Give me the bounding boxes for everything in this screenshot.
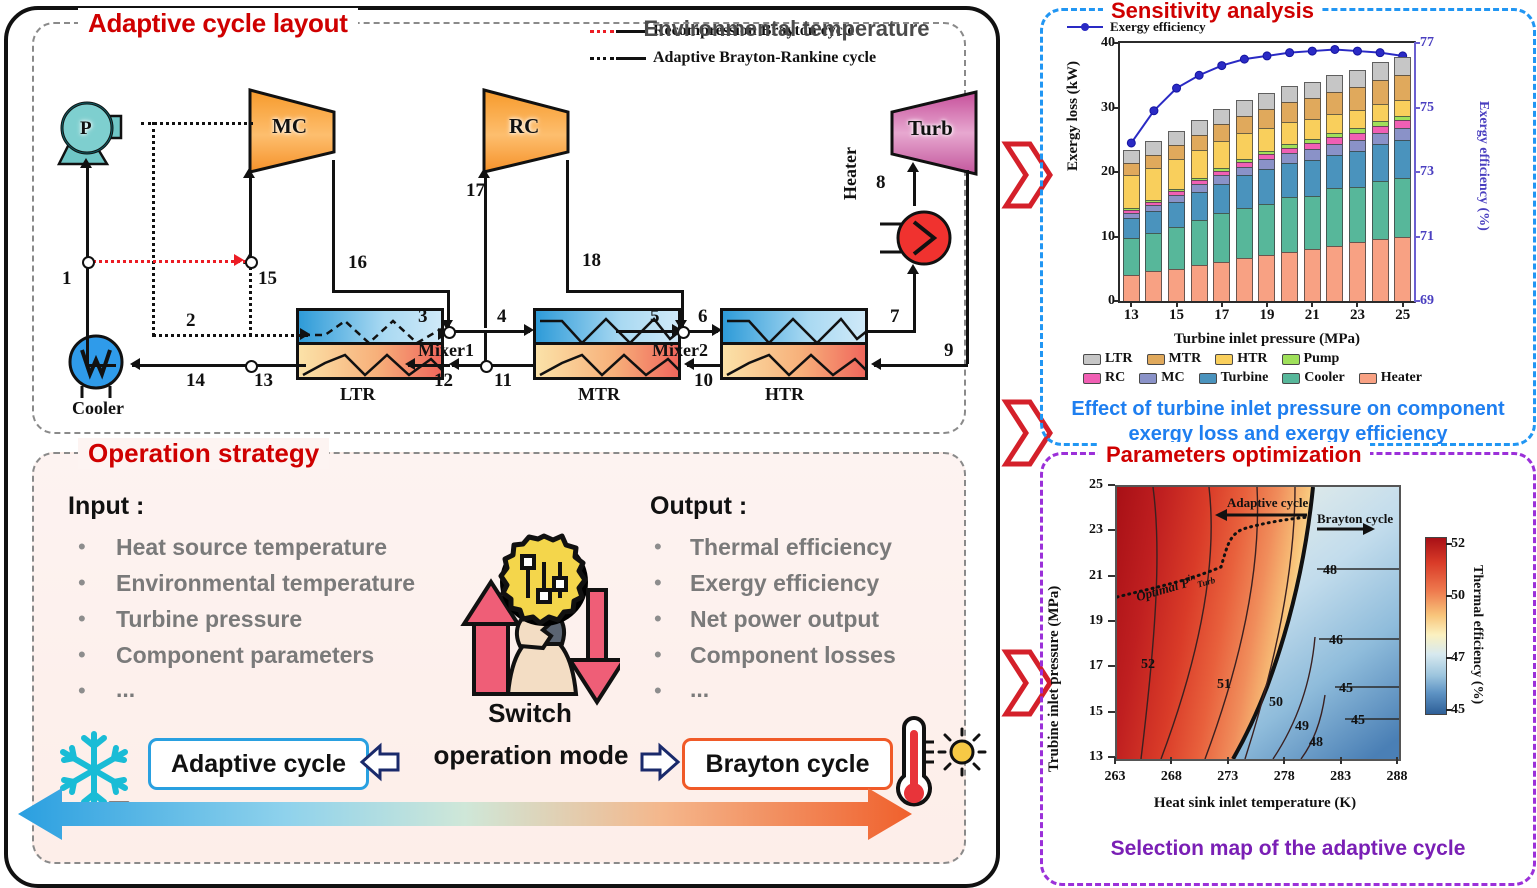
annotation-adaptive-cycle: Adaptive cycle <box>1227 495 1308 511</box>
mode-adaptive-label: Adaptive cycle <box>171 750 346 779</box>
contour-label-51: 51 <box>1217 677 1231 693</box>
bar-segment-mtr <box>1372 80 1389 104</box>
bar-segment-htr <box>1304 119 1321 140</box>
bar-segment-mtr <box>1304 98 1321 119</box>
stream-label-6: 6 <box>698 306 708 328</box>
bar-15 <box>1168 131 1185 301</box>
contour-y-tick-mark <box>1108 529 1115 531</box>
bar-chart-x-axis-title: Turbine inlet pressure (MPa) <box>1118 331 1416 348</box>
y-tick-mark <box>1114 236 1120 238</box>
bar-segment-heater <box>1123 275 1140 301</box>
arrow-left-hollow-icon <box>358 740 402 784</box>
bullet-icon: • <box>654 642 662 668</box>
contour-y-tick-mark <box>1108 665 1115 667</box>
contour-y-tick-mark <box>1108 620 1115 622</box>
exergy-loss-bar-chart: 010203040697173757713151719212325 <box>1118 41 1416 303</box>
switch-line-2: operation mode <box>396 740 666 771</box>
contour-x-tick-mark <box>1170 757 1172 764</box>
gear-head-person-icon <box>460 524 620 714</box>
contour-x-tick-263: 263 <box>1105 769 1126 785</box>
contour-y-tick-mark <box>1108 575 1115 577</box>
bar-chart-y-axis-title: Exergy loss (kW) <box>1065 61 1082 171</box>
bar-segment-heater <box>1168 269 1185 301</box>
bar-segment-ltr <box>1304 82 1321 98</box>
colorbar-tick-52: 52 <box>1451 536 1465 552</box>
legend-item-rc[interactable]: RC <box>1083 370 1125 386</box>
legend-item-pump[interactable]: Pump <box>1282 351 1340 367</box>
node-1 <box>82 256 95 269</box>
contour-x-tick-278: 278 <box>1274 769 1295 785</box>
bar-segment-cooler <box>1349 187 1366 242</box>
bar-segment-ltr <box>1191 120 1208 134</box>
htr-label: HTR <box>765 384 804 405</box>
legend-row: RCMCTurbineCoolerHeater <box>1083 370 1503 386</box>
legend-label: MC <box>1161 370 1184 386</box>
bar-segment-ltr <box>1145 141 1162 155</box>
legend-label: LTR <box>1105 351 1133 367</box>
bar-segment-ltr <box>1326 75 1343 92</box>
contour-x-tick-mark <box>1396 757 1398 764</box>
graphical-abstract: Adaptive cycle layout Recompression Bray… <box>0 0 1537 886</box>
sensitivity-caption: Effect of turbine inlet pressure on comp… <box>1049 397 1527 447</box>
legend-label: Heater <box>1381 370 1422 386</box>
bar-20 <box>1281 86 1298 301</box>
y2-tick-mark <box>1414 300 1420 302</box>
bullet-icon: • <box>78 570 86 596</box>
legend-swatch-icon <box>1215 354 1233 365</box>
bar-segment-htr <box>1258 128 1275 151</box>
bar-segment-rc <box>1394 120 1411 128</box>
contour-y-tick-21: 21 <box>1089 568 1103 584</box>
bar-segment-cooler <box>1372 181 1389 239</box>
input-item-4: ... <box>116 676 135 703</box>
turbine-label: Turb <box>908 116 953 141</box>
bar-segment-cooler <box>1394 178 1411 237</box>
x-tick-mark <box>1221 301 1223 307</box>
bar-segment-htr <box>1281 122 1298 144</box>
stream-label-12: 12 <box>434 370 453 392</box>
bar-25 <box>1394 57 1411 301</box>
bar-segment-cooler <box>1168 227 1185 269</box>
bar-segment-cooler <box>1191 220 1208 265</box>
contour-y-tick-mark <box>1108 711 1115 713</box>
mode-adaptive-cycle[interactable]: Adaptive cycle <box>148 738 369 790</box>
legend-swatch-icon <box>1199 373 1217 384</box>
bar-segment-turbine <box>1168 202 1185 227</box>
bar-segment-htr <box>1168 159 1185 189</box>
colorbar-tick-mark <box>1446 657 1452 659</box>
bar-22 <box>1326 75 1343 301</box>
parameters-optimization-panel: Parameters optimization Trubine inlet pr… <box>1040 452 1536 886</box>
y-tick-mark <box>1114 300 1120 302</box>
x-tick-19: 19 <box>1260 307 1275 324</box>
x-tick-13: 13 <box>1124 307 1139 324</box>
y2-tick-mark <box>1414 42 1420 44</box>
bar-segment-turbine <box>1191 192 1208 220</box>
legend-row: LTRMTRHTRPump <box>1083 351 1503 367</box>
stream-label-8: 8 <box>876 172 886 194</box>
bar-segment-mtr <box>1168 145 1185 159</box>
legend-line-dashed-black-icon <box>590 53 646 63</box>
arrow-12 <box>405 358 415 370</box>
contour-label-52: 52 <box>1141 657 1155 673</box>
y2-tick-mark <box>1414 171 1420 173</box>
output-heading: Output : <box>650 492 747 521</box>
y2-tick-75: 75 <box>1420 100 1434 116</box>
stream-label-14: 14 <box>186 370 205 392</box>
legend-item-mtr[interactable]: MTR <box>1147 351 1202 367</box>
contour-y-axis-title: Trubine inlet pressure (MPa) <box>1046 586 1063 772</box>
bar-segment-cooler <box>1213 213 1230 261</box>
input-item-1: Environmental temperature <box>116 570 415 597</box>
bar-segment-heater <box>1191 265 1208 301</box>
y-tick-20: 20 <box>1101 164 1115 180</box>
bar-series-container <box>1120 43 1414 301</box>
bar-segment-turbine <box>1394 140 1411 178</box>
contour-label-48: 48 <box>1323 563 1337 579</box>
contour-label-46: 45 <box>1339 681 1353 697</box>
arrow-into-cooler <box>130 358 140 370</box>
recompressor-label: RC <box>509 114 539 139</box>
legend-item-cooler[interactable]: Cooler <box>1282 370 1344 386</box>
stream-label-9: 9 <box>944 340 954 362</box>
wire-18-v <box>566 160 569 292</box>
bar-segment-htr <box>1145 168 1162 200</box>
contour-label-45: 45 <box>1351 713 1365 729</box>
dwire-pump-out-top <box>141 122 253 125</box>
bar-segment-heater <box>1281 252 1298 301</box>
legend-item-mc[interactable]: MC <box>1139 370 1184 386</box>
output-item-3: Component losses <box>690 642 896 669</box>
stream-label-16: 16 <box>348 252 367 274</box>
bar-segment-cooler <box>1258 204 1275 256</box>
colorbar-tick-mark <box>1446 543 1452 545</box>
arrow-into-htr-top <box>712 324 722 336</box>
bar-segment-cooler <box>1236 208 1253 258</box>
mode-brayton-cycle[interactable]: Brayton cycle <box>682 738 893 790</box>
x-tick-mark <box>1176 301 1178 307</box>
y2-tick-mark <box>1414 236 1420 238</box>
legend-swatch-icon <box>1139 373 1157 384</box>
bar-16 <box>1191 120 1208 301</box>
bar-segment-mtr <box>1326 92 1343 114</box>
y2-tick-mark <box>1414 107 1420 109</box>
bar-14 <box>1145 141 1162 301</box>
bar-segment-mc <box>1372 133 1389 145</box>
stream-label-10: 10 <box>694 370 713 392</box>
bar-segment-mc <box>1349 140 1366 151</box>
bar-segment-htr <box>1326 114 1343 133</box>
pump-icon <box>55 98 137 170</box>
legend-swatch-icon <box>1083 373 1101 384</box>
optimal-sup: in <box>1186 571 1196 583</box>
bar-segment-turbine <box>1213 184 1230 214</box>
bar-segment-mtr <box>1213 124 1230 141</box>
bar-segment-ltr <box>1168 131 1185 145</box>
legend-label: HTR <box>1237 351 1267 367</box>
x-tick-mark <box>1402 301 1404 307</box>
wire-14 <box>132 364 302 367</box>
x-tick-17: 17 <box>1214 307 1229 324</box>
bar-segment-heater <box>1213 262 1230 301</box>
wire-9-v <box>966 170 969 364</box>
optimization-caption: Selection map of the adaptive cycle <box>1049 837 1527 861</box>
contour-label-48b: 48 <box>1309 735 1323 751</box>
bullet-icon: • <box>654 678 662 704</box>
wire-1-lower <box>86 258 89 366</box>
x-tick-mark <box>1266 301 1268 307</box>
node-15 <box>245 256 258 269</box>
y-tick-10: 10 <box>1101 229 1115 245</box>
stream-label-2: 2 <box>186 310 196 332</box>
bar-21 <box>1304 82 1321 301</box>
stream-label-18: 18 <box>582 250 601 272</box>
wire-15-up <box>249 176 252 260</box>
contour-label-50: 50 <box>1269 695 1283 711</box>
bar-segment-turbine <box>1236 175 1253 208</box>
bar-segment-heater <box>1304 249 1321 301</box>
bar-segment-ltr <box>1258 93 1275 108</box>
bar-segment-htr <box>1349 110 1366 128</box>
bar-chart-y2-axis-title: Exergy efficiency (%) <box>1475 101 1491 231</box>
x-tick-mark <box>1130 301 1132 307</box>
legend-item-ltr[interactable]: LTR <box>1083 351 1133 367</box>
bar-segment-mc <box>1394 128 1411 140</box>
node-11-branch <box>480 360 493 373</box>
bar-segment-turbine <box>1258 169 1275 204</box>
wire-9-h <box>874 364 968 367</box>
bar-segment-heater <box>1258 255 1275 301</box>
ltr-label: LTR <box>340 384 375 405</box>
stream-label-13: 13 <box>254 370 273 392</box>
bar-23 <box>1349 70 1366 301</box>
bar-segment-cooler <box>1281 197 1298 252</box>
bar-segment-htr <box>1236 133 1253 158</box>
stream-label-5: 5 <box>650 306 660 328</box>
contour-x-tick-283: 283 <box>1330 769 1351 785</box>
bar-segment-heater <box>1145 271 1162 301</box>
mtr-label: MTR <box>578 384 620 405</box>
legend-swatch-icon <box>1282 373 1300 384</box>
bar-segment-ltr <box>1394 57 1411 75</box>
contour-y-tick-mark <box>1108 484 1115 486</box>
legend-label: MTR <box>1169 351 1202 367</box>
colorbar-tick-47: 47 <box>1451 650 1465 666</box>
bar-segment-mc <box>1213 175 1230 183</box>
contour-x-tick-288: 288 <box>1387 769 1408 785</box>
bullet-icon: • <box>78 678 86 704</box>
htr-heat-exchanger <box>720 308 868 380</box>
legend-label: Pump <box>1304 351 1340 367</box>
bar-segment-mc <box>1258 159 1275 169</box>
exergy-efficiency-legend: Exergy efficiency <box>1065 19 1206 35</box>
bar-segment-ltr <box>1213 109 1230 124</box>
arrow-right-hollow-icon <box>638 740 682 784</box>
arrow-into-mtr-top <box>524 324 534 336</box>
arrow-into-turbine <box>907 162 919 172</box>
arrow-2-into-ltr <box>300 328 310 340</box>
bar-segment-ltr <box>1236 100 1253 115</box>
bar-segment-cooler <box>1326 188 1343 245</box>
contour-y-tick-25: 25 <box>1089 477 1103 493</box>
bar-segment-heater <box>1372 239 1389 301</box>
y-tick-40: 40 <box>1101 35 1115 51</box>
bar-segment-mc <box>1168 195 1185 202</box>
contour-x-tick-mark <box>1227 757 1229 764</box>
wire-7-v <box>913 272 916 332</box>
contour-label-49: 49 <box>1295 719 1309 735</box>
bar-segment-htr <box>1394 100 1411 116</box>
bar-segment-turbine <box>1145 211 1162 233</box>
wire-13 <box>296 364 306 367</box>
wire-4 <box>452 330 530 333</box>
stream-label-4: 4 <box>497 306 507 328</box>
output-item-2: Net power output <box>690 606 879 633</box>
bar-segment-htr <box>1191 150 1208 178</box>
colorbar-tick-mark <box>1446 709 1452 711</box>
x-tick-21: 21 <box>1305 307 1320 324</box>
main-compressor-label: MC <box>272 114 307 139</box>
bar-segment-ltr <box>1281 86 1298 102</box>
bar-segment-mtr <box>1394 75 1411 100</box>
contour-y-tick-23: 23 <box>1089 522 1103 538</box>
sensitivity-caption-line1: Effect of turbine inlet pressure on comp… <box>1049 397 1527 422</box>
contour-x-tick-mark <box>1340 757 1342 764</box>
x-tick-mark <box>1356 301 1358 307</box>
contour-y-tick-15: 15 <box>1089 704 1103 720</box>
arrow-into-heater <box>907 264 919 274</box>
bar-segment-turbine <box>1326 155 1343 189</box>
legend-label: Turbine <box>1221 370 1269 386</box>
operation-strategy-title: Operation strategy <box>78 438 329 469</box>
contour-y-tick-17: 17 <box>1089 658 1103 674</box>
wire-16-h <box>332 290 450 293</box>
bar-segment-rc <box>1349 133 1366 140</box>
legend-swatch-icon <box>1147 354 1165 365</box>
wire-18-h <box>566 290 684 293</box>
wire-11 <box>452 364 534 367</box>
bar-segment-mc <box>1236 167 1253 175</box>
wire-8 <box>913 170 916 206</box>
y2-tick-69: 69 <box>1420 293 1434 309</box>
mixer2-label: Mixer2 <box>652 340 708 361</box>
line-marker-icon <box>1065 21 1105 33</box>
y-tick-mark <box>1114 171 1120 173</box>
bar-segment-htr <box>1372 104 1389 121</box>
parameters-optimization-title: Parameters optimization <box>1098 442 1370 468</box>
y2-tick-73: 73 <box>1420 164 1434 180</box>
bullet-icon: • <box>78 642 86 668</box>
arrow-red-to-15 <box>234 254 244 266</box>
arrow-into-htr-bottom <box>871 358 881 370</box>
contour-x-tick-268: 268 <box>1161 769 1182 785</box>
bar-segment-cooler <box>1123 238 1140 275</box>
bar-segment-mtr <box>1191 135 1208 150</box>
y-tick-mark <box>1114 42 1120 44</box>
bullet-icon: • <box>78 534 86 560</box>
legend-item-htr[interactable]: HTR <box>1215 351 1267 367</box>
contour-y-tick-19: 19 <box>1089 613 1103 629</box>
mode-brayton-label: Brayton cycle <box>706 750 870 779</box>
y2-tick-77: 77 <box>1420 35 1434 51</box>
arrow-into-rc <box>478 168 490 178</box>
cooler-label: Cooler <box>72 398 124 419</box>
bar-segment-mc <box>1326 144 1343 155</box>
x-tick-25: 25 <box>1395 307 1410 324</box>
bullet-icon: • <box>654 606 662 632</box>
bar-segment-ltr <box>1349 70 1366 87</box>
bar-segment-mtr <box>1281 102 1298 121</box>
bar-18 <box>1236 100 1253 301</box>
colorbar-tick-50: 50 <box>1451 588 1465 604</box>
legend-item-heater[interactable]: Heater <box>1359 370 1422 386</box>
bar-segment-ltr <box>1372 62 1389 80</box>
bar-24 <box>1372 62 1389 301</box>
bar-segment-htr <box>1123 175 1140 208</box>
bar-segment-turbine <box>1281 163 1298 197</box>
bar-segment-rc <box>1372 126 1389 133</box>
y-tick-30: 30 <box>1101 100 1115 116</box>
y2-tick-71: 71 <box>1420 229 1434 245</box>
legend-item-turbine[interactable]: Turbine <box>1199 370 1269 386</box>
input-heading: Input : <box>68 492 144 521</box>
x-tick-mark <box>1311 301 1313 307</box>
contour-y-tick-13: 13 <box>1089 749 1103 765</box>
bar-segment-mc <box>1281 153 1298 163</box>
stream-label-11: 11 <box>494 370 512 392</box>
bar-segment-heater <box>1236 258 1253 301</box>
legend-label: Cooler <box>1304 370 1344 386</box>
arrow-into-mc <box>243 168 255 178</box>
bullet-icon: • <box>654 534 662 560</box>
bar-chart-legend: LTRMTRHTRPumpRCMCTurbineCoolerHeater <box>1083 351 1503 389</box>
output-item-4: ... <box>690 676 709 703</box>
environmental-temperature-bar <box>18 786 912 842</box>
y-tick-mark <box>1114 107 1120 109</box>
bar-segment-mtr <box>1145 155 1162 169</box>
output-item-0: Thermal efficiency <box>690 534 892 561</box>
contour-x-tick-273: 273 <box>1217 769 1238 785</box>
bar-segment-cooler <box>1304 196 1321 249</box>
dwire-2 <box>152 334 308 337</box>
pump-label: P <box>80 118 92 140</box>
legend-swatch-icon <box>1083 354 1101 365</box>
wire-16-v <box>332 160 335 292</box>
dwire-2-down <box>152 122 155 336</box>
wire-cooler-out <box>86 364 116 367</box>
bar-segment-turbine <box>1349 151 1366 187</box>
rwire-1 <box>86 260 246 263</box>
stream-label-3: 3 <box>418 306 428 328</box>
contour-label-47: 46 <box>1329 633 1343 649</box>
stream-label-7: 7 <box>890 306 900 328</box>
bar-17 <box>1213 109 1230 301</box>
node-mixer1 <box>443 326 456 339</box>
bar-segment-mc <box>1304 149 1321 159</box>
switch-line-1: Switch <box>430 698 630 729</box>
bar-segment-mtr <box>1258 109 1275 128</box>
bar-segment-mtr <box>1123 163 1140 175</box>
bar-segment-turbine <box>1123 218 1140 238</box>
bullet-icon: • <box>654 570 662 596</box>
contour-x-tick-mark <box>1283 757 1285 764</box>
node-mixer2 <box>677 326 690 339</box>
bar-segment-mtr <box>1236 116 1253 133</box>
legend-adaptive: Adaptive Brayton-Rankine cycle <box>590 49 876 67</box>
bar-segment-ltr <box>1123 150 1140 164</box>
colorbar-tick-mark <box>1446 595 1452 597</box>
x-tick-23: 23 <box>1350 307 1365 324</box>
